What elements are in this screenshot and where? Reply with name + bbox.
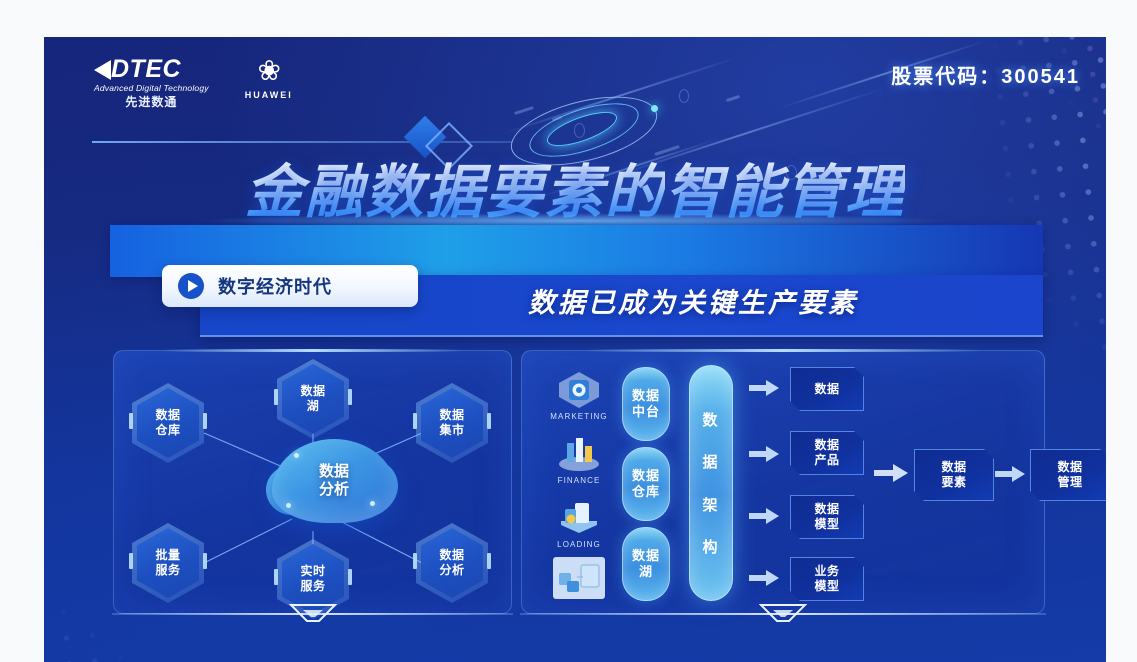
dtec-logo-mark: DTEC (94, 57, 209, 82)
panel-top-glow (162, 349, 464, 352)
capsule-line1: 数据 (632, 548, 660, 563)
dtec-logo-text: DTEC (111, 57, 181, 82)
output-card-line1: 数据 (814, 502, 839, 516)
output-card-line2: 模型 (814, 579, 839, 593)
hex-node[interactable]: 数据 仓库 (132, 383, 204, 463)
right-diagram-panel: MARKETING FINANCE (521, 350, 1045, 614)
hex-node-line2: 服务 (155, 563, 180, 577)
capsule-node[interactable]: 数据 湖 (622, 527, 670, 601)
arrow-right-icon (995, 465, 1025, 483)
hex-node-line1: 数据 (439, 408, 464, 422)
capsule-node[interactable]: 数据 仓库 (622, 447, 670, 521)
loading-box-icon (555, 497, 603, 537)
hex-node-line1: 批量 (155, 548, 180, 562)
output-card-line1: 数据 (814, 438, 839, 452)
banner-pill[interactable]: 数字经济时代 (162, 265, 418, 307)
hex-node-line2: 分析 (439, 563, 464, 577)
output-card[interactable]: 数据 (790, 367, 864, 411)
hex-node-line1: 数据 (300, 384, 325, 398)
hex-node[interactable]: 数据 集市 (416, 383, 488, 463)
section-banner: 数字经济时代 数据已成为关键生产要素 (110, 225, 1043, 335)
source-item-label: LOADING (548, 540, 610, 549)
hex-node-line2: 集市 (439, 423, 464, 437)
hex-node[interactable]: 数据 湖 (277, 359, 349, 439)
architecture-char: 构 (702, 536, 719, 557)
stock-code-label: 股票代码：300541 (891, 60, 1080, 89)
panel-top-glow (585, 349, 982, 352)
source-item-label: MARKETING (548, 412, 610, 421)
architecture-char: 据 (702, 451, 719, 472)
dtec-logo: DTEC Advanced Digital Technology 先进数通 (94, 57, 209, 108)
data-element-line2: 要素 (941, 475, 966, 489)
huawei-flower-icon: ❀ (245, 57, 293, 85)
arrow-right-icon (749, 379, 779, 397)
banner-pill-label: 数字经济时代 (218, 273, 332, 299)
capsule-line2: 湖 (639, 564, 653, 579)
cloud-label-line2: 分析 (319, 481, 349, 498)
hex-node-line1: 数据 (155, 408, 180, 422)
chart-finance-icon (555, 433, 603, 473)
output-card[interactable]: 数据 产品 (790, 431, 864, 475)
hex-node-line2: 服务 (300, 579, 325, 593)
output-card[interactable]: 业务 模型 (790, 557, 864, 601)
output-card-line2: 模型 (814, 517, 839, 531)
dtec-arrow-icon (94, 60, 111, 80)
data-management-card[interactable]: 数据 管理 (1030, 449, 1106, 501)
huawei-logo: ❀ HUAWEI (245, 57, 293, 100)
output-card[interactable]: 数据 模型 (790, 495, 864, 539)
capsule-line2: 仓库 (632, 484, 660, 499)
source-item[interactable]: MARKETING (548, 369, 610, 421)
huawei-logo-text: HUAWEI (245, 90, 293, 100)
data-element-line1: 数据 (941, 460, 966, 474)
arrow-right-icon (749, 569, 779, 587)
arrow-merge-icon (874, 463, 908, 481)
hex-node[interactable]: 批量 服务 (132, 523, 204, 603)
output-card-line1: 数据 (814, 382, 839, 396)
output-card-line1: 业务 (814, 564, 839, 578)
data-analysis-cloud[interactable]: 数据 分析 (272, 439, 396, 523)
play-icon (178, 273, 204, 299)
data-element-card[interactable]: 数据 要素 (914, 449, 994, 501)
hex-node-line2: 湖 (307, 399, 320, 413)
source-item-label: FINANCE (548, 476, 610, 485)
source-item[interactable]: FINANCE (548, 433, 610, 485)
arrow-right-icon (749, 445, 779, 463)
hex-node-line2: 仓库 (155, 423, 180, 437)
banner-headline: 数据已成为关键生产要素 (528, 281, 858, 320)
dtec-tagline: Advanced Digital Technology (94, 84, 209, 93)
capsule-node[interactable]: 数据 中台 (622, 367, 670, 441)
dtec-chinese-name: 先进数通 (94, 96, 209, 108)
presentation-slide: DTEC Advanced Digital Technology 先进数通 ❀ … (44, 37, 1106, 662)
data-management-line2: 管理 (1057, 475, 1082, 489)
capsule-line1: 数据 (632, 388, 660, 403)
hex-node-line1: 数据 (439, 548, 464, 562)
source-item[interactable]: LOADING (548, 497, 610, 549)
devices-icon (553, 557, 605, 599)
screenshot-root: DTEC Advanced Digital Technology 先进数通 ❀ … (0, 0, 1137, 650)
cube-marketing-icon (555, 369, 603, 409)
capsule-line1: 数据 (632, 468, 660, 483)
logo-group: DTEC Advanced Digital Technology 先进数通 ❀ … (94, 57, 293, 108)
left-panel-chevron-icon[interactable] (289, 603, 337, 623)
architecture-char: 架 (702, 494, 719, 515)
left-diagram-panel: 数据 仓库 数据 湖 数据 集市 (113, 350, 512, 614)
cloud-label-line1: 数据 (319, 463, 349, 480)
capsule-line2: 中台 (632, 404, 660, 419)
source-item[interactable] (548, 557, 610, 602)
right-panel-chevron-icon[interactable] (759, 603, 807, 623)
data-management-line1: 数据 (1057, 460, 1082, 474)
hex-node[interactable]: 数据 分析 (416, 523, 488, 603)
architecture-capsule[interactable]: 数 据 架 构 (689, 365, 733, 601)
arrow-right-icon (749, 507, 779, 525)
hex-node-line1: 实时 (300, 564, 325, 578)
orbit-bead-icon (651, 105, 658, 112)
output-card-line2: 产品 (814, 453, 839, 467)
architecture-char: 数 (702, 409, 719, 430)
